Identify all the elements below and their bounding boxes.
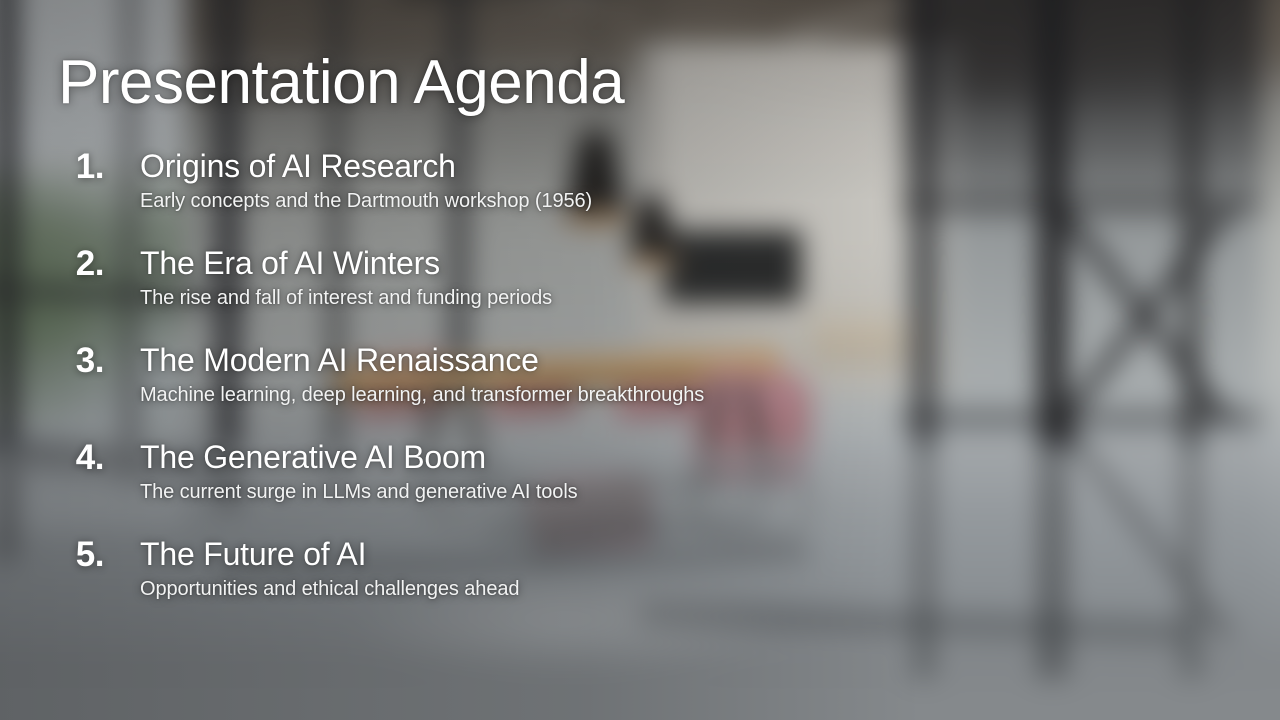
agenda-item-subtitle: The rise and fall of interest and fundin… — [140, 285, 552, 311]
agenda-item-1: 1. Origins of AI Research Early concepts… — [0, 146, 1100, 243]
agenda-item-body: Origins of AI Research Early concepts an… — [108, 146, 592, 214]
agenda-item-title: The Modern AI Renaissance — [140, 340, 704, 380]
agenda-item-title: The Era of AI Winters — [140, 243, 552, 283]
slide-content: Presentation Agenda 1. Origins of AI Res… — [0, 0, 1280, 720]
agenda-item-3: 3. The Modern AI Renaissance Machine lea… — [0, 340, 1100, 437]
agenda-item-number: 5. — [0, 534, 108, 576]
agenda-item-body: The Generative AI Boom The current surge… — [108, 437, 578, 505]
agenda-item-subtitle: Machine learning, deep learning, and tra… — [140, 382, 704, 408]
agenda-item-number: 3. — [0, 340, 108, 382]
agenda-item-title: The Generative AI Boom — [140, 437, 578, 477]
agenda-item-4: 4. The Generative AI Boom The current su… — [0, 437, 1100, 534]
agenda-item-number: 1. — [0, 146, 108, 188]
agenda-item-title: Origins of AI Research — [140, 146, 592, 186]
agenda-item-number: 4. — [0, 437, 108, 479]
agenda-item-subtitle: The current surge in LLMs and generative… — [140, 479, 578, 505]
presentation-slide: Presentation Agenda 1. Origins of AI Res… — [0, 0, 1280, 720]
agenda-item-title: The Future of AI — [140, 534, 519, 574]
agenda-item-number: 2. — [0, 243, 108, 285]
agenda-item-2: 2. The Era of AI Winters The rise and fa… — [0, 243, 1100, 340]
page-title: Presentation Agenda — [58, 52, 624, 114]
agenda-list: 1. Origins of AI Research Early concepts… — [0, 146, 1100, 631]
agenda-item-body: The Era of AI Winters The rise and fall … — [108, 243, 552, 311]
agenda-item-body: The Future of AI Opportunities and ethic… — [108, 534, 519, 602]
agenda-item-subtitle: Early concepts and the Dartmouth worksho… — [140, 188, 592, 214]
agenda-item-5: 5. The Future of AI Opportunities and et… — [0, 534, 1100, 631]
agenda-item-subtitle: Opportunities and ethical challenges ahe… — [140, 576, 519, 602]
agenda-item-body: The Modern AI Renaissance Machine learni… — [108, 340, 704, 408]
